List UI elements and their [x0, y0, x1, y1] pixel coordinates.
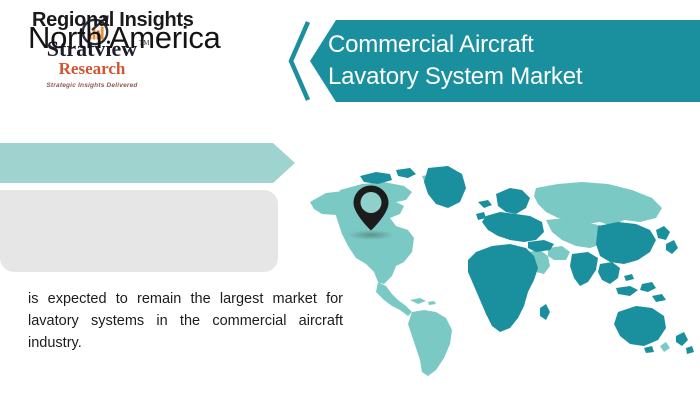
region-name: North America	[28, 20, 221, 56]
header-banner: Commercial Aircraft Lavatory System Mark…	[288, 20, 700, 102]
region-name-box	[0, 190, 278, 272]
brand-tagline: Strategic Insights Delivered	[22, 82, 162, 89]
map-pin-icon	[352, 184, 390, 232]
region-description: is expected to remain the largest market…	[28, 288, 343, 354]
page-title-line2: Lavatory System Market	[328, 61, 678, 93]
page-title-line1: Commercial Aircraft	[328, 29, 678, 61]
regional-insights-banner	[0, 143, 295, 183]
brand-division: Research	[22, 60, 162, 77]
page-title: Commercial Aircraft Lavatory System Mark…	[328, 29, 678, 93]
